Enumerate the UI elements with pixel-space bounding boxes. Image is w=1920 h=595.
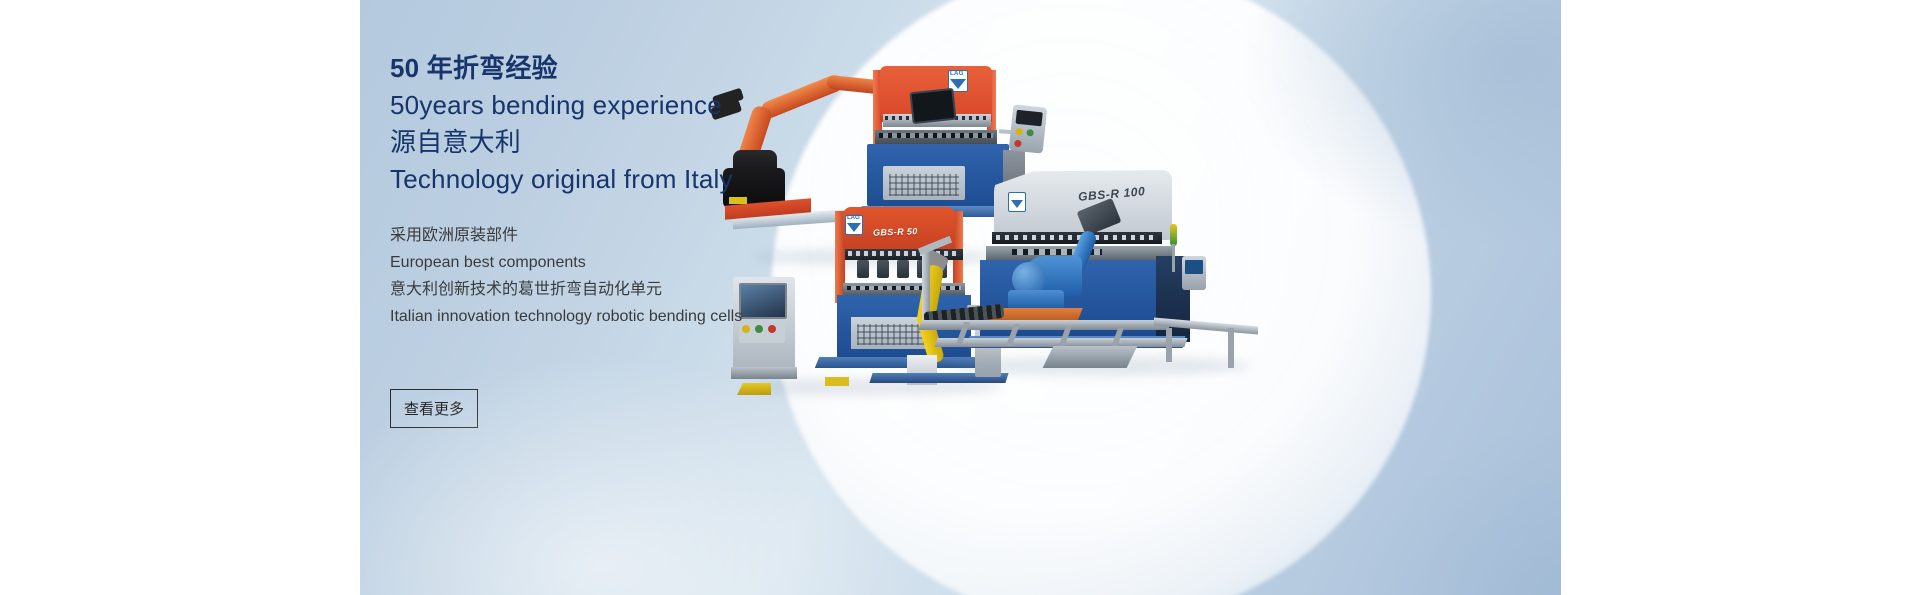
signal-tower-pole (1172, 244, 1175, 272)
unloading-table-leg (1166, 328, 1172, 362)
yellow-floor-chock (737, 383, 771, 395)
headline-line-1: 50 年折弯经验 (390, 50, 820, 87)
headline-line-2: 50years bending experience (390, 87, 820, 124)
blue-robot-base (1008, 290, 1064, 310)
sheet-metal-stack (1043, 346, 1138, 368)
lag-logo-icon (1008, 192, 1026, 212)
linear-rail-front (918, 320, 1172, 330)
lag-logo-icon: LAG (845, 215, 863, 235)
subtext-line-3: 意大利创新技术的葛世折弯自动化单元 (390, 276, 820, 303)
machine-photo-gbs-r-100: GBS-R 100 (928, 170, 1258, 370)
subtext-line-1: 采用欧洲原装部件 (390, 222, 820, 249)
headline-line-4: Technology original from Italy (390, 161, 820, 198)
view-more-button[interactable]: 查看更多 (390, 389, 478, 428)
banner-stage: LAG LAG GBS-R 50 (0, 0, 1920, 595)
banner-subtext: 采用欧洲原装部件 European best components 意大利创新技… (390, 222, 820, 330)
safety-post (922, 248, 930, 320)
signal-tower-lamp (1170, 224, 1177, 246)
yellow-floor-marker (825, 377, 849, 386)
unloading-table-leg (1228, 328, 1234, 368)
press-control-screen (909, 88, 956, 124)
banner-copy: 50 年折弯经验 50years bending experience 源自意大… (390, 50, 820, 330)
teach-pendant (1009, 104, 1048, 153)
banner-headline: 50 年折弯经验 50years bending experience 源自意大… (390, 50, 820, 198)
machine-model-label: GBS-R 50 (873, 226, 918, 238)
subtext-line-4: Italian innovation technology robotic be… (390, 303, 820, 330)
cabinet-base (731, 367, 797, 379)
headline-line-3: 源自意大利 (390, 124, 820, 161)
subtext-line-2: European best components (390, 249, 820, 276)
hero-banner: LAG LAG GBS-R 50 (360, 0, 1561, 595)
hmi-terminal (1182, 256, 1206, 290)
press-lower-bed (875, 130, 997, 144)
